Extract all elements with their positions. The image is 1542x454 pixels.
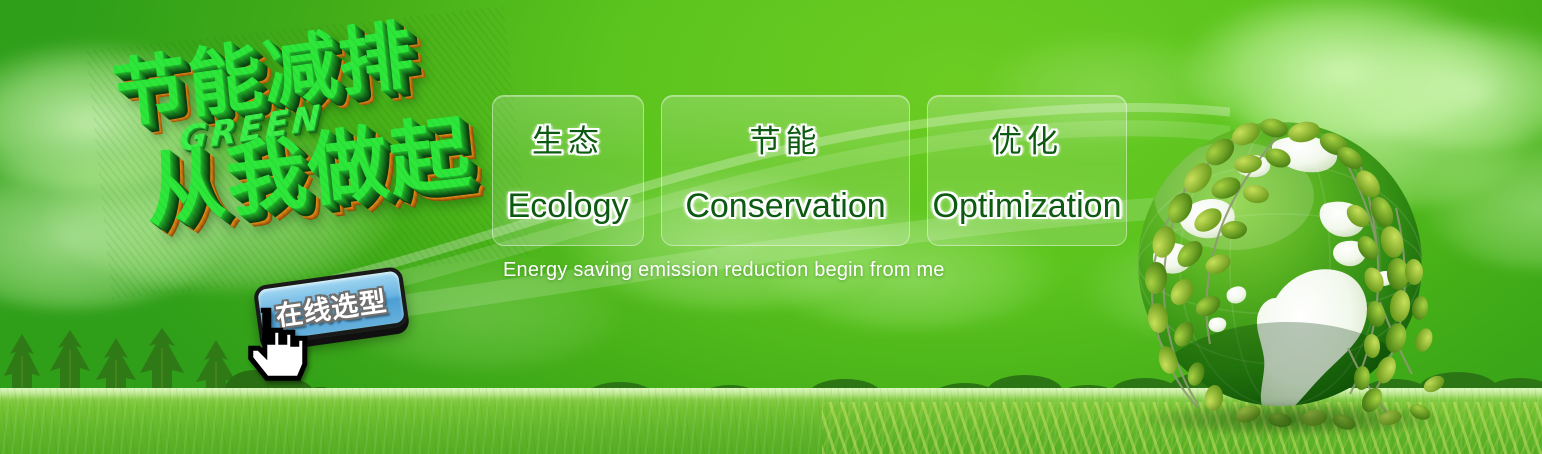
feature-card-optimization[interactable]: 优化 Optimization — [927, 95, 1127, 246]
feature-card-title-cn: 节能 — [750, 116, 822, 161]
feature-card-conservation[interactable]: 节能 Conservation — [661, 95, 910, 246]
feature-card-title-en: Ecology — [508, 187, 629, 226]
headline-3d: 节能减排 GREEN 从我做起 — [86, 7, 530, 300]
feature-card-title-en: Conservation — [685, 187, 885, 226]
globe-shadow — [1142, 402, 1442, 436]
feature-card-title-cn: 优化 — [991, 116, 1063, 161]
online-selection-button-label: 在线选型 — [273, 279, 389, 333]
feature-card-title-en: Optimization — [933, 187, 1122, 226]
ivy-covered-globe-icon — [1128, 112, 1448, 432]
eco-promo-banner: 节能减排 GREEN 从我做起 在线选型 生态 Ecology 节能 Conse… — [0, 0, 1542, 454]
tagline: Energy saving emission reduction begin f… — [503, 259, 945, 282]
feature-card-list: 生态 Ecology 节能 Conservation 优化 Optimizati… — [492, 95, 1127, 246]
feature-card-title-cn: 生态 — [532, 116, 604, 161]
globe-graphic — [1128, 112, 1448, 432]
feature-card-ecology[interactable]: 生态 Ecology — [492, 95, 644, 246]
